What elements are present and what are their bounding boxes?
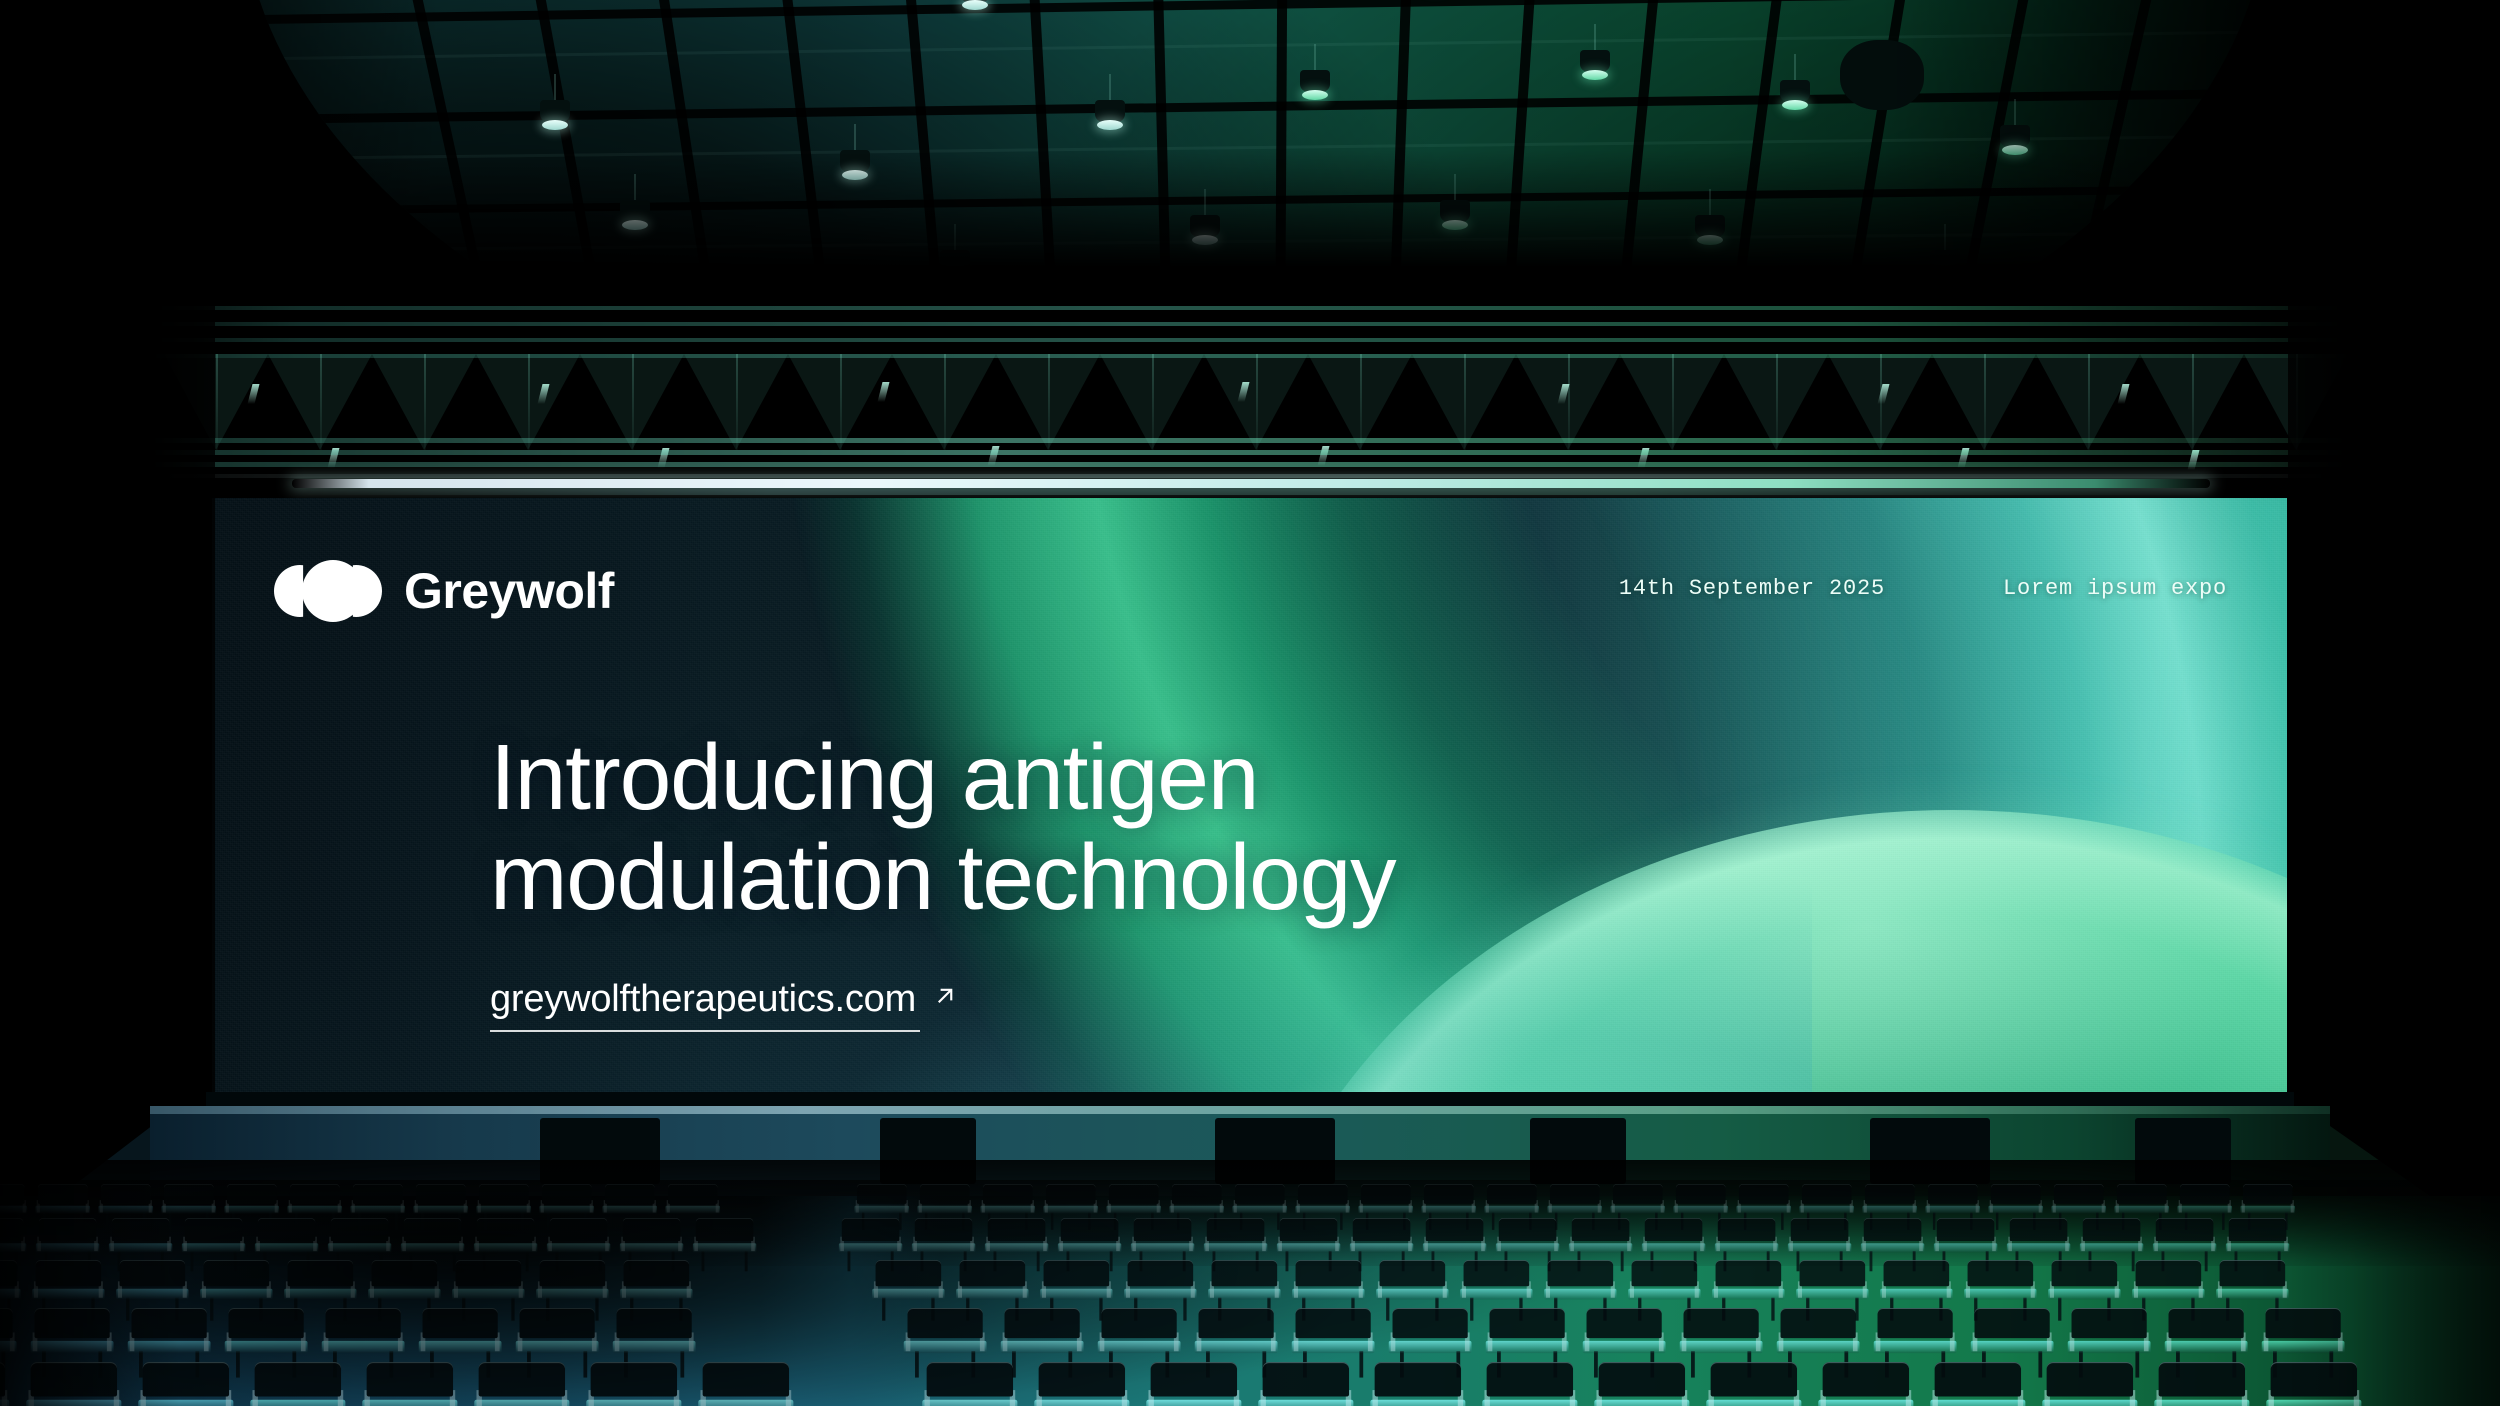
seat-cushion [1628,1289,1700,1300]
seat-cushion [1058,1243,1121,1252]
seat-back [112,1218,170,1241]
seat-back [1280,1218,1338,1241]
seat-cushion [1232,1206,1287,1214]
truss-dropper [2192,354,2194,450]
ceiling-light-housing [1580,50,1610,72]
seat-back [132,1308,207,1338]
seat-back [1039,1362,1125,1397]
seat-back [624,1260,690,1286]
ceiling-downlight-icon [1582,70,1608,80]
seat-cushion [35,1206,90,1214]
seat-cushion [109,1243,172,1252]
truss-dropper [1672,354,1674,450]
seat-cushion [1208,1289,1280,1300]
seat-cushion [1370,1400,1465,1406]
seat-cushion [322,1341,405,1353]
seat-back [696,1218,754,1241]
seat-back [1878,1308,1953,1338]
seat-cushion [1482,1400,1577,1406]
seat-cushion [2165,1341,2248,1353]
seat-back [1393,1308,1468,1338]
seat-back [1548,1260,1614,1286]
seat-cushion [474,1243,537,1252]
ceiling-downlight-icon [1302,90,1328,100]
seat-back [703,1362,789,1397]
seat-cushion [872,1289,944,1300]
seat-back [550,1218,608,1241]
seat-cushion [362,1400,457,1406]
seat-cushion [912,1243,975,1252]
seat-back [668,1184,718,1204]
seat-cushion [1043,1206,1098,1214]
seat-cushion [224,1206,279,1214]
list-item [1702,1362,1806,1406]
seat-back [1361,1184,1411,1204]
seat-cushion [956,1289,1028,1300]
seat-back [1572,1218,1630,1241]
seat-back [404,1218,462,1241]
seat-back [920,1184,970,1204]
seat-back [38,1184,88,1204]
seat-cushion [1460,1289,1532,1300]
seat-cushion [200,1289,272,1300]
ceiling-downlight-icon [1782,100,1808,110]
list-item [134,1362,238,1406]
list-item [358,1362,462,1406]
seat-cushion [1799,1206,1854,1214]
seat-back [1739,1184,1789,1204]
seat-back [1968,1260,2034,1286]
list-item [22,1362,126,1406]
ceiling-downlight-icon [962,0,988,10]
auditorium-seating-icon [0,1180,2500,1406]
seat-cushion [839,1243,902,1252]
seat-back [1424,1184,1474,1204]
seat-cushion [31,1341,114,1353]
seat-cushion [1610,1206,1665,1214]
seat-cushion [250,1400,345,1406]
seat-back [367,1362,453,1397]
seat-back [120,1260,186,1286]
seat-back [927,1362,1013,1397]
seat-back [1172,1184,1222,1204]
seat-back [1151,1362,1237,1397]
seat-back [372,1260,438,1286]
seat-cushion [1040,1289,1112,1300]
seat-cushion [128,1341,211,1353]
seat-back [1884,1260,1950,1286]
seat-back [1296,1260,1362,1286]
seat-cushion [284,1289,356,1300]
seat-cushion [985,1243,1048,1252]
truss-service-rail [42,474,2442,478]
seat-cushion [1642,1243,1705,1252]
right-wall-shadow [2288,300,2500,1200]
seat-cushion [1930,1400,2025,1406]
seat-back [39,1218,97,1241]
seat-back [1380,1260,1446,1286]
seat-back [1102,1308,1177,1338]
truss-dropper [944,354,946,450]
list-item [1926,1362,2030,1406]
seat-cushion [2226,1243,2289,1252]
seat-back [960,1260,1026,1286]
seat-back [331,1218,389,1241]
seat-cushion [1421,1206,1476,1214]
list-item [470,1362,574,1406]
event-meta: 14th September 2025 Lorem ipsum expo [1619,560,2227,601]
seat-back [617,1308,692,1338]
seat-back [2243,1184,2293,1204]
seat-cushion [350,1206,405,1214]
seat-back [1490,1308,1565,1338]
website-url-text: greywolftherapeutics.com [490,978,916,1021]
seat-back [2159,1362,2245,1397]
truss-lower-chord [20,438,2480,443]
truss-dropper [1152,354,1154,450]
seat-cushion [620,1289,692,1300]
seat-back [2072,1308,2147,1338]
seat-cushion [1146,1400,1241,1406]
seat-cushion [613,1341,696,1353]
seat-back [0,1184,25,1204]
seat-back [227,1184,277,1204]
seat-back [915,1218,973,1241]
seat-back [1109,1184,1159,1204]
seat-back [842,1218,900,1241]
list-item [582,1362,686,1406]
list-item [1590,1362,1694,1406]
seat-back [0,1308,13,1338]
seat-back [520,1308,595,1338]
seat-cushion [413,1206,468,1214]
seat-back [1613,1184,1663,1204]
seat-cushion [1169,1206,1224,1214]
seat-back [1865,1184,1915,1204]
seat-back [1005,1308,1080,1338]
seat-back [35,1308,110,1338]
list-item [2262,1362,2366,1406]
seat-cushion [1569,1243,1632,1252]
brand-logo[interactable]: Greywolf [274,560,614,622]
truss-dropper [1984,354,1986,450]
seat-cushion [1925,1206,1980,1214]
screen-content: Greywolf 14th September 2025 Lorem ipsum… [212,498,2287,1096]
list-item [918,1362,1022,1406]
seat-leg-left [882,1298,885,1321]
seat-back [2136,1260,2202,1286]
seat-back [1991,1184,2041,1204]
seat-cushion [1736,1206,1791,1214]
seat-cushion [1547,1206,1602,1214]
seat-cushion [1594,1400,1689,1406]
list-item [1254,1362,1358,1406]
stage-light-bar-icon [292,479,2210,488]
seat-back [1134,1218,1192,1241]
seat-back [1207,1218,1265,1241]
seat-back [2180,1184,2230,1204]
seat-cushion [452,1289,524,1300]
seat-cushion [586,1400,681,1406]
seat-back [416,1184,466,1204]
seat-back [2220,1260,2286,1286]
seat-cushion [1788,1243,1851,1252]
seat-back [1046,1184,1096,1204]
seat-back [2156,1218,2214,1241]
event-date: 14th September 2025 [1619,576,1885,601]
seat-back [2117,1184,2167,1204]
seat-back [258,1218,316,1241]
seat-back [1044,1260,1110,1286]
truss-lower-chord [20,462,2480,467]
seat-cushion [1715,1243,1778,1252]
seat-cushion [536,1289,608,1300]
seat-cushion [368,1289,440,1300]
website-link-underline [490,1030,920,1032]
seat-back [1061,1218,1119,1241]
seat-cushion [1258,1400,1353,1406]
seat-back [143,1362,229,1397]
seat-back [623,1218,681,1241]
seat-back [1263,1362,1349,1397]
seat-back [1975,1308,2050,1338]
seat-cushion [1376,1289,1448,1300]
seat-cushion [182,1243,245,1252]
truss-dropper [736,354,738,450]
seat-cushion [1423,1243,1486,1252]
seat-cushion [474,1400,569,1406]
truss-chord [60,338,2440,342]
ceiling-light-housing [1780,80,1810,102]
seat-back [1781,1308,1856,1338]
seat-back [876,1260,942,1286]
seat-back [1128,1260,1194,1286]
truss-dropper [424,354,426,450]
seat-cushion [1861,1243,1924,1252]
website-link[interactable]: greywolftherapeutics.com [490,978,960,1032]
seat-leg-left [702,1251,705,1271]
seat-cushion [1880,1289,1952,1300]
seat-cushion [1106,1206,1161,1214]
seat-leg-right [1621,1251,1624,1271]
seat-cushion [1544,1289,1616,1300]
seat-cushion [1277,1243,1340,1252]
seat-cushion [116,1289,188,1300]
seat-back [1716,1260,1782,1286]
seat-back [0,1362,5,1397]
auditorium-scene: Greywolf 14th September 2025 Lorem ipsum… [0,0,2500,1406]
stage-edge-highlight [150,1106,2330,1114]
seat-cushion [2132,1289,2204,1300]
seat-cushion [161,1206,216,1214]
seat-back [164,1184,214,1204]
seat-cushion [904,1341,987,1353]
event-name: Lorem ipsum expo [2003,576,2227,601]
seat-leg-right [1781,1213,1783,1230]
seat-back [456,1260,522,1286]
seat-back [988,1218,1046,1241]
screen-topbar: Greywolf 14th September 2025 Lorem ipsum… [274,560,2227,622]
seat-back [1499,1218,1557,1241]
seat-back [290,1184,340,1204]
seat-back [423,1308,498,1338]
seat-cushion [1034,1400,1129,1406]
seat-cushion [1874,1341,1957,1353]
seat-back [540,1260,606,1286]
seat-cushion [401,1243,464,1252]
seat-leg-left [1051,1213,1053,1230]
seat-back [1800,1260,1866,1286]
seat-back [1599,1362,1685,1397]
seat-cushion [2051,1206,2106,1214]
seat-back [1791,1218,1849,1241]
seat-back [353,1184,403,1204]
truss-chord [60,322,2440,326]
seat-back [983,1184,1033,1204]
seat-cushion [2114,1206,2169,1214]
seat-back [2266,1308,2341,1338]
seat-cushion [2266,1400,2361,1406]
seat-cushion [1796,1289,1868,1300]
seat-leg-right [745,1251,748,1271]
seat-back [2054,1184,2104,1204]
brand-wordmark: Greywolf [404,566,614,616]
seat-back [1587,1308,1662,1338]
seat-back [1212,1260,1278,1286]
list-item [1814,1362,1918,1406]
list-item [246,1362,350,1406]
truss-dropper [632,354,634,450]
seat-cushion [2048,1289,2120,1300]
seat-back [1711,1362,1797,1397]
seat-leg-left [1286,1251,1289,1271]
seat-cushion [2216,1289,2288,1300]
seat-back [477,1218,535,1241]
seat-cushion [26,1400,121,1406]
seat-back [1296,1308,1371,1338]
seat-cushion [539,1206,594,1214]
list-item [694,1362,798,1406]
truss-dropper [528,354,530,450]
seat-cushion [698,1400,793,1406]
seat-cushion [1934,1243,1997,1252]
seat-cushion [602,1206,657,1214]
seat-cushion [1680,1341,1763,1353]
seat-cushion [547,1243,610,1252]
seat-cushion [476,1206,531,1214]
page-title: Introducing antigen modulation technolog… [490,728,1395,927]
list-item [1478,1362,1582,1406]
seat-cushion [665,1206,720,1214]
ceiling-light-housing [1300,70,1330,92]
truss-dropper [1048,354,1050,450]
seat-leg-right [1359,1351,1363,1377]
seat-back [542,1184,592,1204]
ceiling-downlight-icon [542,120,568,130]
seat-cushion [1712,1289,1784,1300]
seat-back [1935,1362,2021,1397]
seat-cushion [1204,1243,1267,1252]
seat-back [1718,1218,1776,1241]
seat-cushion [2153,1243,2216,1252]
seat-back [857,1184,907,1204]
seat-back [288,1260,354,1286]
seat-back [1426,1218,1484,1241]
seat-cushion [2177,1206,2232,1214]
list-item [690,1218,759,1271]
ceiling-downlight-icon [1097,120,1123,130]
seat-cushion [225,1341,308,1353]
seat-back [36,1260,102,1286]
seat-back [1298,1184,1348,1204]
seat-back [2271,1362,2357,1397]
seat-back [1375,1362,1461,1397]
seat-back [1864,1218,1922,1241]
left-wall-shadow [0,300,215,1200]
seat-back [255,1362,341,1397]
seat-back [1487,1184,1537,1204]
truss-dropper [1256,354,1258,450]
seat-back [1487,1362,1573,1397]
seat-back [185,1218,243,1241]
seat-cushion [693,1243,756,1252]
seat-back [1464,1260,1530,1286]
seat-back [908,1308,983,1338]
seat-cushion [1389,1341,1472,1353]
truss-dropper [1568,354,1570,450]
seat-cushion [419,1341,502,1353]
seat-cushion [36,1243,99,1252]
seat-back [2083,1218,2141,1241]
seat-leg-left [848,1251,851,1271]
seat-cushion [1292,1341,1375,1353]
seat-cushion [1777,1341,1860,1353]
seat-cushion [917,1206,972,1214]
truss-dropper [1464,354,1466,450]
seat-cushion [1818,1400,1913,1406]
seat-back [101,1184,151,1204]
seat-leg-left [2058,1298,2061,1321]
seat-back [326,1308,401,1338]
seat-cushion [2240,1206,2295,1214]
seat-cushion [1350,1243,1413,1252]
seat-back [1928,1184,1978,1204]
seat-cushion [287,1206,342,1214]
seat-cushion [1484,1206,1539,1214]
seat-cushion [980,1206,1035,1214]
seat-back [479,1184,529,1204]
seat-cushion [1964,1289,2036,1300]
seat-cushion [1295,1206,1350,1214]
truss-dropper [320,354,322,450]
seat-back [229,1308,304,1338]
seat-back [1632,1260,1698,1286]
seat-cushion [1583,1341,1666,1353]
stage-light-bar-glow [292,488,2210,495]
seat-back [2010,1218,2068,1241]
seat-cushion [1195,1341,1278,1353]
seat-back [204,1260,270,1286]
seat-back [31,1362,117,1397]
seat-cushion [1292,1289,1364,1300]
seat-cushion [328,1243,391,1252]
seat-back [1823,1362,1909,1397]
seat-back [0,1218,23,1241]
seat-cushion [138,1400,233,1406]
seat-cushion [1124,1289,1196,1300]
truss-dropper [216,354,218,450]
arrow-up-right-icon [930,978,960,1008]
